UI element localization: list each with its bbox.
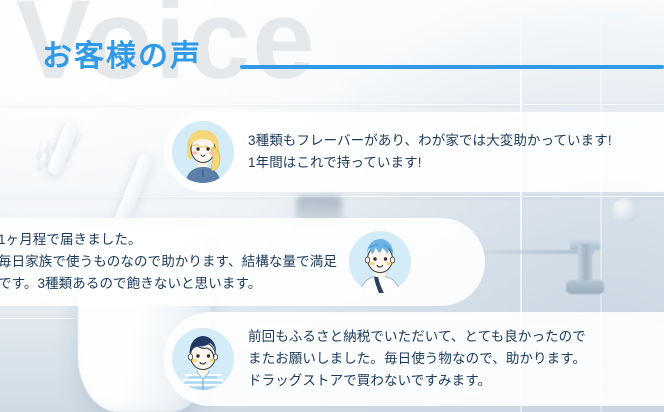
testimonial-card: 1ヶ月程で届きました。 毎日家族で使うものなので助かります、結構な量で満足 です… bbox=[0, 218, 485, 306]
avatar-blonde-woman bbox=[172, 121, 234, 183]
avatar-blue-hair-man bbox=[349, 231, 411, 293]
testimonial-card: 3種類もフレーバーがあり、わが家では大変助かっています! 1年間はこれで持ってい… bbox=[164, 112, 664, 192]
bathroom-fixture bbox=[612, 198, 638, 224]
voice-testimonials-section: Voice お客様の声 bbox=[0, 0, 664, 412]
testimonial-quote: 1ヶ月程で届きました。 毎日家族で使うものなので助かります、結構な量で満足 です… bbox=[0, 229, 337, 295]
faucet-base bbox=[566, 280, 604, 294]
testimonial-card: 前回もふるさと納税でいただいて、とても良かったので またお願いしました。毎日使う… bbox=[164, 312, 664, 406]
testimonial-quote: 3種類もフレーバーがあり、わが家では大変助かっています! 1年間はこれで持ってい… bbox=[248, 130, 612, 174]
heading-underline bbox=[240, 65, 664, 69]
testimonial-quote: 前回もふるさと納税でいただいて、とても良かったので またお願いしました。毎日使う… bbox=[248, 326, 586, 392]
wall-seam-line bbox=[0, 104, 664, 105]
faucet-icon bbox=[476, 250, 594, 254]
avatar-striped-shirt-man bbox=[172, 328, 234, 390]
page-title: お客様の声 bbox=[42, 40, 202, 73]
